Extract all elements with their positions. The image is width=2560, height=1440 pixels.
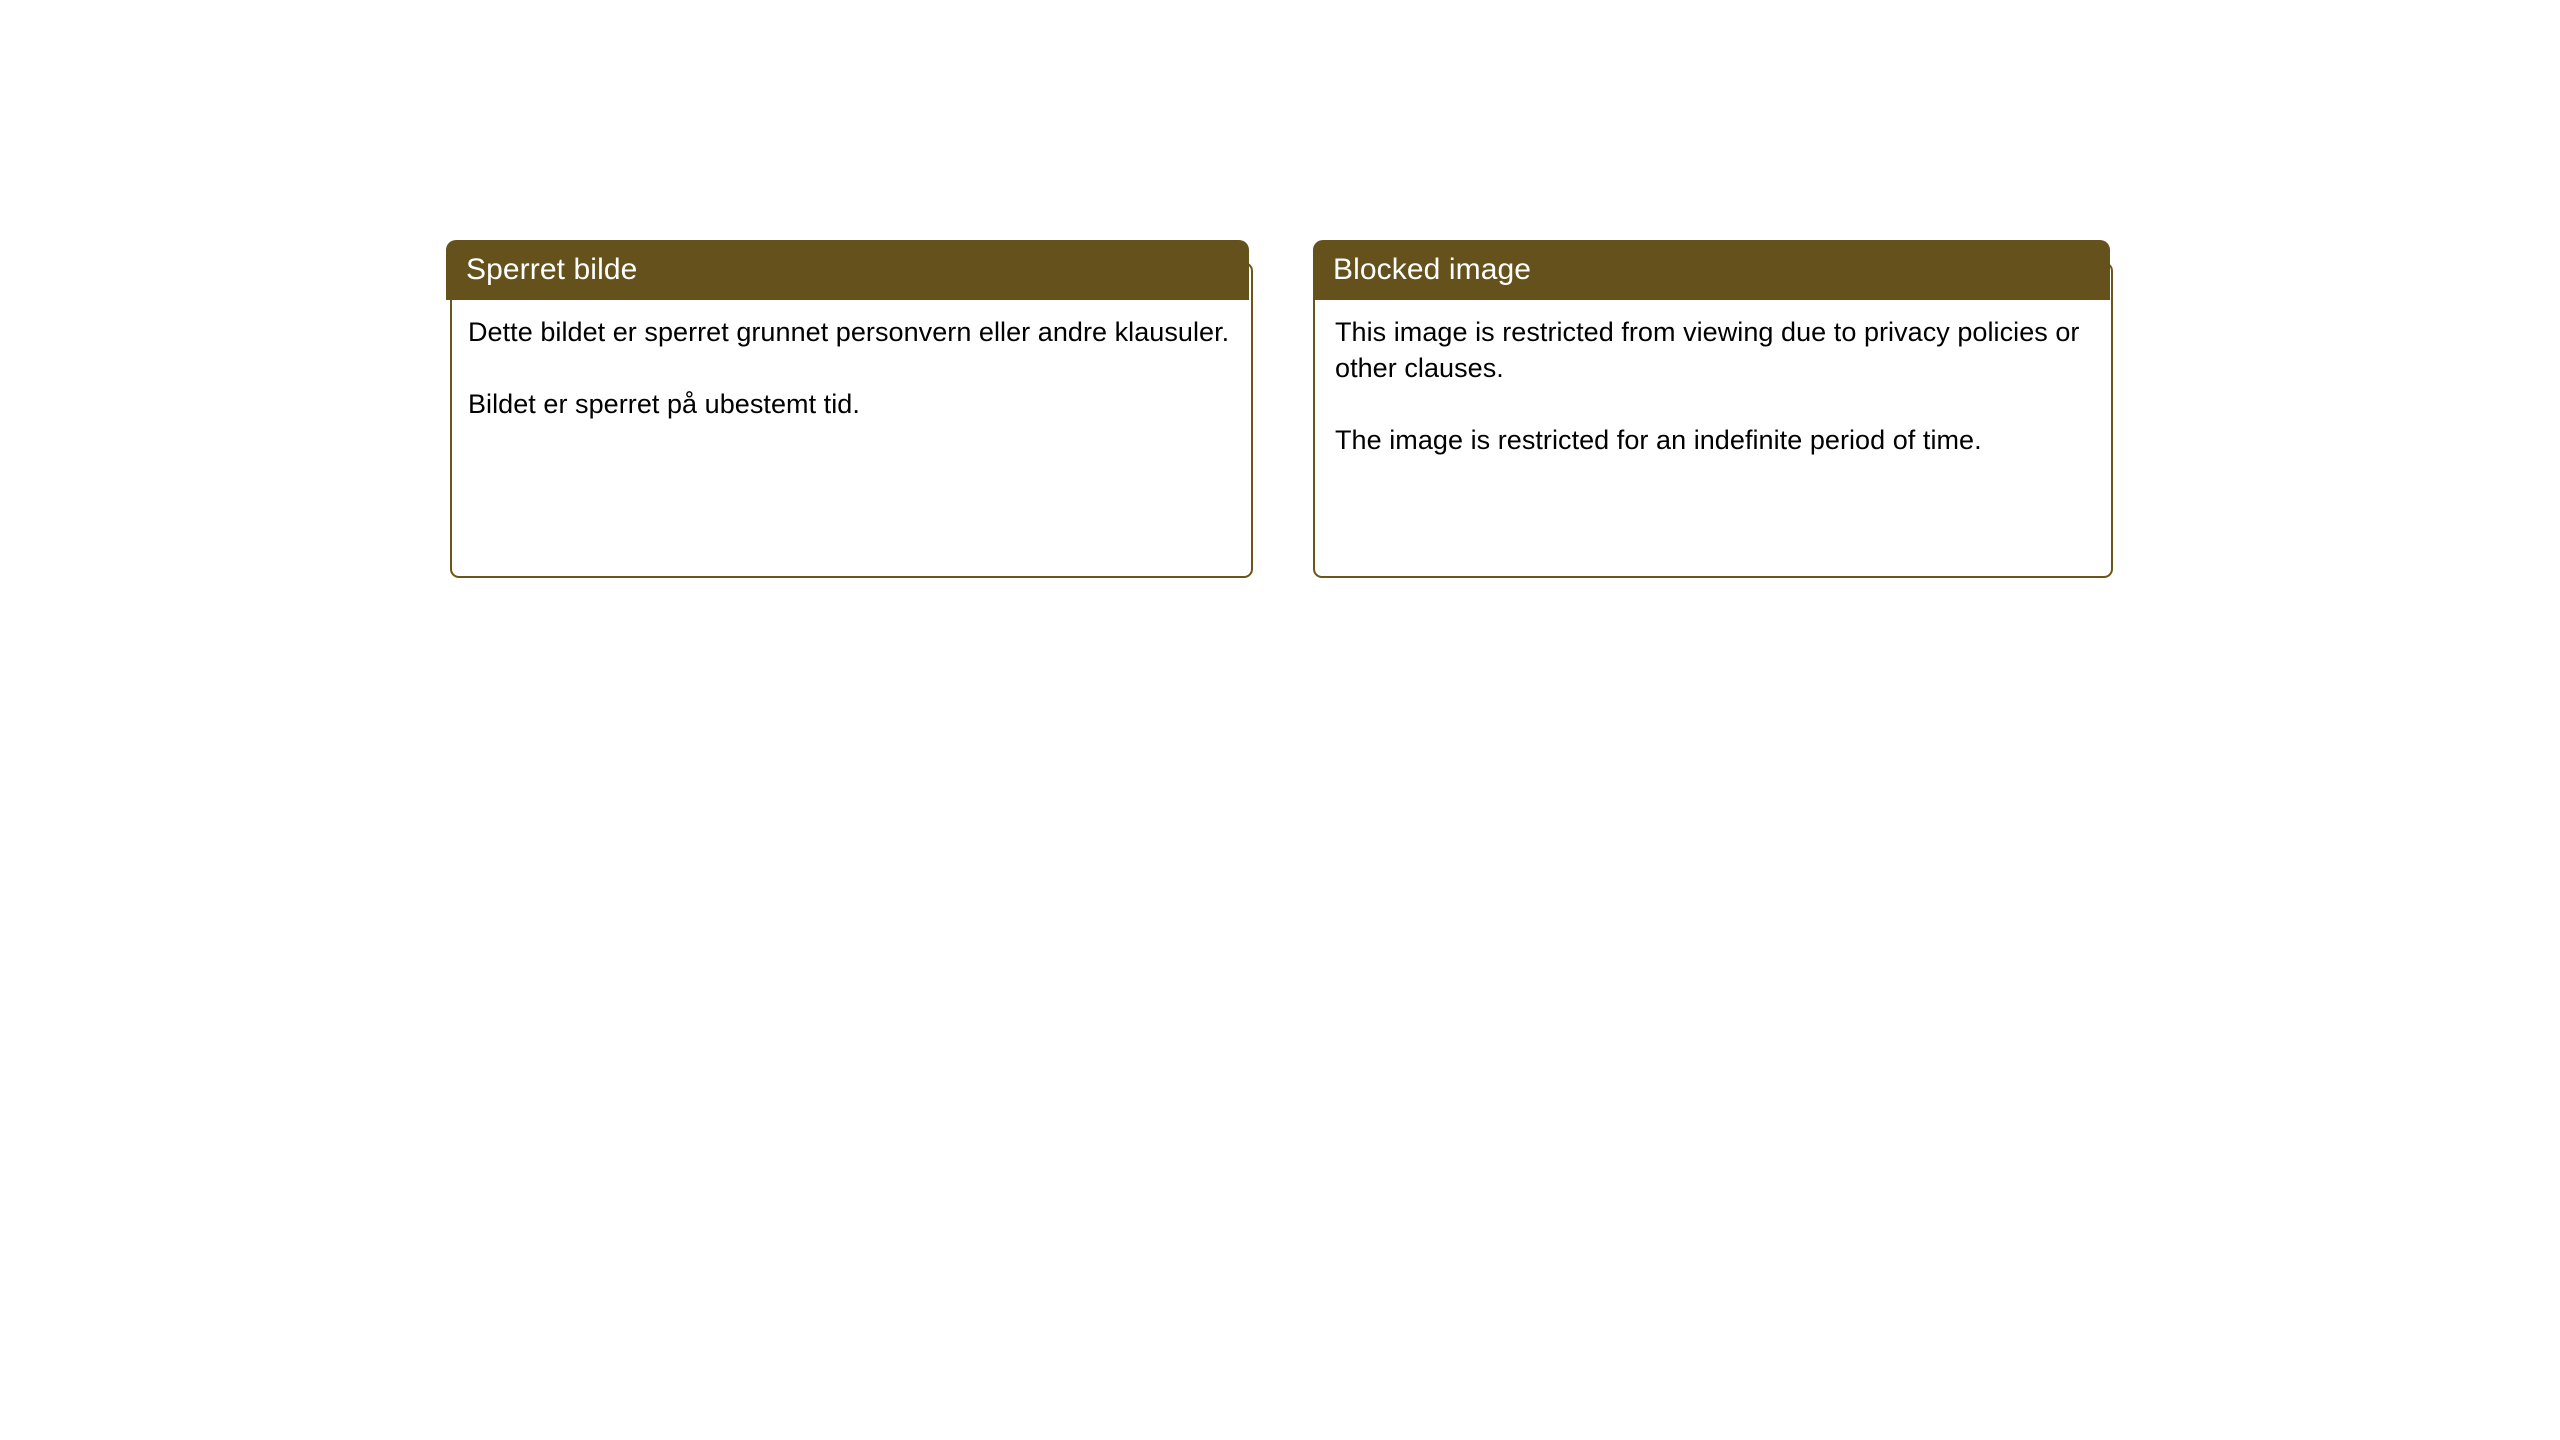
- blocked-image-panel-english: Blocked image This image is restricted f…: [1313, 240, 2113, 578]
- panel-inner: Blocked image This image is restricted f…: [1313, 240, 2113, 578]
- panel-header-bar: Sperret bilde: [446, 240, 1249, 300]
- panel-content: Dette bildet er sperret grunnet personve…: [464, 300, 1239, 572]
- panel-paragraph-duration: The image is restricted for an indefinit…: [1335, 422, 2091, 458]
- blocked-image-panel-norwegian: Sperret bilde Dette bildet er sperret gr…: [446, 240, 1253, 578]
- panel-inner: Sperret bilde Dette bildet er sperret gr…: [446, 240, 1253, 578]
- panel-title: Blocked image: [1333, 253, 1531, 287]
- panel-content: This image is restricted from viewing du…: [1331, 300, 2099, 572]
- panel-paragraph-duration: Bildet er sperret på ubestemt tid.: [468, 386, 1231, 422]
- panel-paragraph-reason: Dette bildet er sperret grunnet personve…: [468, 314, 1231, 350]
- page-canvas: Sperret bilde Dette bildet er sperret gr…: [0, 0, 2560, 1440]
- panel-header-bar: Blocked image: [1313, 240, 2110, 300]
- panel-paragraph-reason: This image is restricted from viewing du…: [1335, 314, 2091, 386]
- panel-title: Sperret bilde: [466, 253, 637, 287]
